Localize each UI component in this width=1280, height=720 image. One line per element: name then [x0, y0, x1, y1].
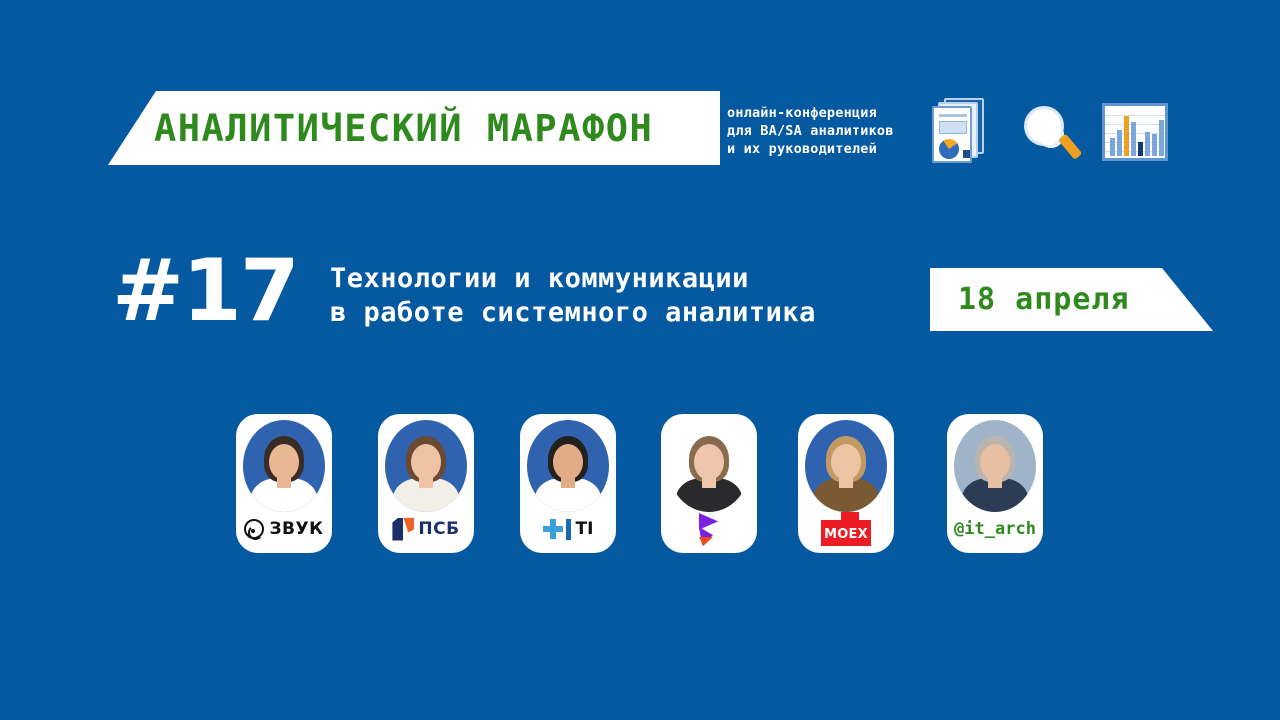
- title-banner: АНАЛИТИЧЕСКИЙ МАРАФОН: [108, 91, 720, 165]
- ti-bar-icon: [566, 519, 571, 540]
- pie-chart-glyph: [939, 139, 959, 159]
- avatar-neck: [561, 474, 575, 488]
- document-line: [939, 114, 967, 117]
- speaker-avatar: [805, 420, 887, 512]
- document-text-block: [939, 121, 967, 134]
- speaker-company-logo: TI: [520, 511, 616, 547]
- header-section: АНАЛИТИЧЕСКИЙ МАРАФОН онлайн-конференция…: [0, 0, 1280, 200]
- bar-chart-frame: [1102, 103, 1168, 161]
- speaker-avatar: [385, 420, 467, 512]
- avatar-neck: [988, 474, 1002, 488]
- speaker-card[interactable]: @it_arch: [947, 414, 1043, 553]
- date-badge-text: 18 апреля: [958, 282, 1130, 317]
- subtitle-line-1: онлайн-конференция: [727, 104, 894, 122]
- bar-chart-gridline: [1105, 115, 1165, 116]
- bar-chart-bar: [1152, 134, 1157, 156]
- speaker-avatar: [954, 420, 1036, 512]
- magnifier-icon: [1018, 98, 1080, 166]
- logo-text: ПСБ: [418, 519, 459, 539]
- document-sheet-front: [932, 106, 972, 163]
- speaker-card[interactable]: TI: [520, 414, 616, 553]
- bar-chart-bar: [1131, 122, 1136, 156]
- logo-psb: ПСБ: [392, 518, 459, 541]
- bar-chart-bar: [1138, 142, 1143, 156]
- logo-text: MOEX: [821, 527, 871, 542]
- bar-chart-bar: [1124, 116, 1129, 156]
- subtitle-line-3: и их руководителей: [727, 140, 894, 158]
- speaker-card[interactable]: ЗВУК: [236, 414, 332, 553]
- magnifier-handle: [1058, 134, 1082, 160]
- bar-chart-bar: [1117, 130, 1122, 156]
- logo-text: @it_arch: [954, 519, 1036, 539]
- speaker-avatar: [527, 420, 609, 512]
- speaker-company-logo: [661, 511, 757, 547]
- speaker-card[interactable]: [661, 414, 757, 553]
- avatar-neck: [277, 474, 291, 488]
- headline-line-1: Технологии и коммуникации: [330, 262, 816, 296]
- headline-text: Технологии и коммуникации в работе систе…: [330, 262, 816, 330]
- speaker-company-logo: MOEX: [798, 511, 894, 547]
- avatar-neck: [839, 474, 853, 488]
- avatar-neck: [419, 474, 433, 488]
- magnifier-lens-inner: [1038, 122, 1064, 148]
- speaker-company-logo: ЗВУК: [236, 511, 332, 547]
- logo-moex: MOEX: [821, 512, 871, 546]
- speaker-company-logo: ПСБ: [378, 511, 474, 547]
- bar-chart-bar: [1110, 138, 1115, 156]
- logo-text: ЗВУК: [269, 519, 323, 539]
- header-icon-group: [930, 98, 1155, 168]
- speaker-card[interactable]: MOEX: [798, 414, 894, 553]
- logo-rostelecom-mark-icon: [695, 513, 723, 545]
- legend-square-glyph: [963, 150, 971, 158]
- documents-report-icon: [930, 98, 986, 166]
- headline-line-2: в работе системного аналитика: [330, 296, 816, 330]
- speaker-card-row: ЗВУКПСБTIMOEX@it_arch: [0, 414, 1280, 560]
- bar-chart-bar: [1145, 132, 1150, 156]
- conference-title: АНАЛИТИЧЕСКИЙ МАРАФОН: [154, 107, 653, 150]
- bar-chart-bar: [1159, 120, 1164, 156]
- conference-subtitle: онлайн-конференция для BA/SA аналитиков …: [727, 104, 894, 158]
- plus-icon: [543, 519, 563, 539]
- speaker-avatar: [243, 420, 325, 512]
- psb-mark-icon: [392, 518, 414, 541]
- episode-number: #17: [112, 248, 298, 334]
- speaker-avatar: [668, 420, 750, 512]
- speaker-card[interactable]: ПСБ: [378, 414, 474, 553]
- zvuk-mark-icon: [244, 519, 264, 539]
- speaker-company-logo: @it_arch: [947, 511, 1043, 547]
- avatar-neck: [702, 474, 716, 488]
- subtitle-line-2: для BA/SA аналитиков: [727, 122, 894, 140]
- logo-text: TI: [576, 519, 594, 539]
- logo-ti: TI: [543, 519, 594, 540]
- bar-chart-icon: [1102, 98, 1170, 166]
- logo-zvuk: ЗВУК: [244, 519, 323, 539]
